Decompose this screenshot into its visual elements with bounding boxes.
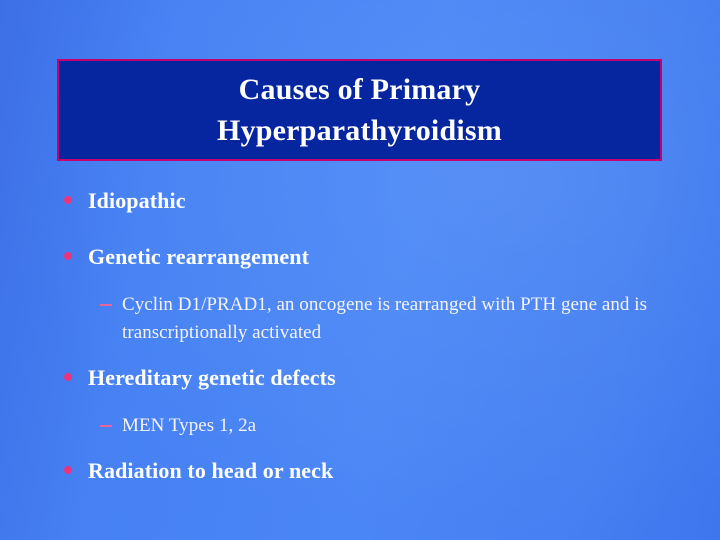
sub-list-item-label: Cyclin D1/PRAD1, an oncogene is rearrang…	[122, 294, 647, 343]
bullet-dot-icon	[64, 373, 72, 381]
bullet-group: Hereditary genetic defects MEN Types 1, …	[0, 363, 720, 440]
bullet-group: Radiation to head or neck	[0, 456, 720, 496]
sub-list-item: Cyclin D1/PRAD1, an oncogene is rearrang…	[0, 291, 720, 347]
bullet-group: Genetic rearrangement Cyclin D1/PRAD1, a…	[0, 242, 720, 347]
bullet-dot-icon	[64, 252, 72, 260]
dash-icon	[100, 425, 112, 427]
bullet-group: Idiopathic	[0, 186, 720, 226]
list-item-label: Genetic rearrangement	[88, 244, 309, 269]
list-item-label: Idiopathic	[88, 188, 186, 213]
slide-title-line-1: Causes of Primary	[239, 69, 481, 110]
slide-body-content: Idiopathic Genetic rearrangement Cyclin …	[0, 186, 720, 496]
list-item: Idiopathic	[0, 186, 720, 226]
sub-list-item-label: MEN Types 1, 2a	[122, 415, 256, 436]
bullet-dot-icon	[64, 466, 72, 474]
list-item-label: Radiation to head or neck	[88, 458, 333, 483]
list-item: Radiation to head or neck	[0, 456, 720, 496]
list-item: Genetic rearrangement	[0, 242, 720, 282]
sub-list-item: MEN Types 1, 2a	[0, 412, 720, 440]
slide-title-box: Causes of Primary Hyperparathyroidism	[57, 59, 662, 161]
list-item-label: Hereditary genetic defects	[88, 365, 336, 390]
presentation-slide: Causes of Primary Hyperparathyroidism Id…	[0, 0, 720, 540]
bullet-dot-icon	[64, 196, 72, 204]
list-item: Hereditary genetic defects	[0, 363, 720, 403]
slide-title-line-2: Hyperparathyroidism	[217, 110, 502, 151]
dash-icon	[100, 304, 112, 306]
